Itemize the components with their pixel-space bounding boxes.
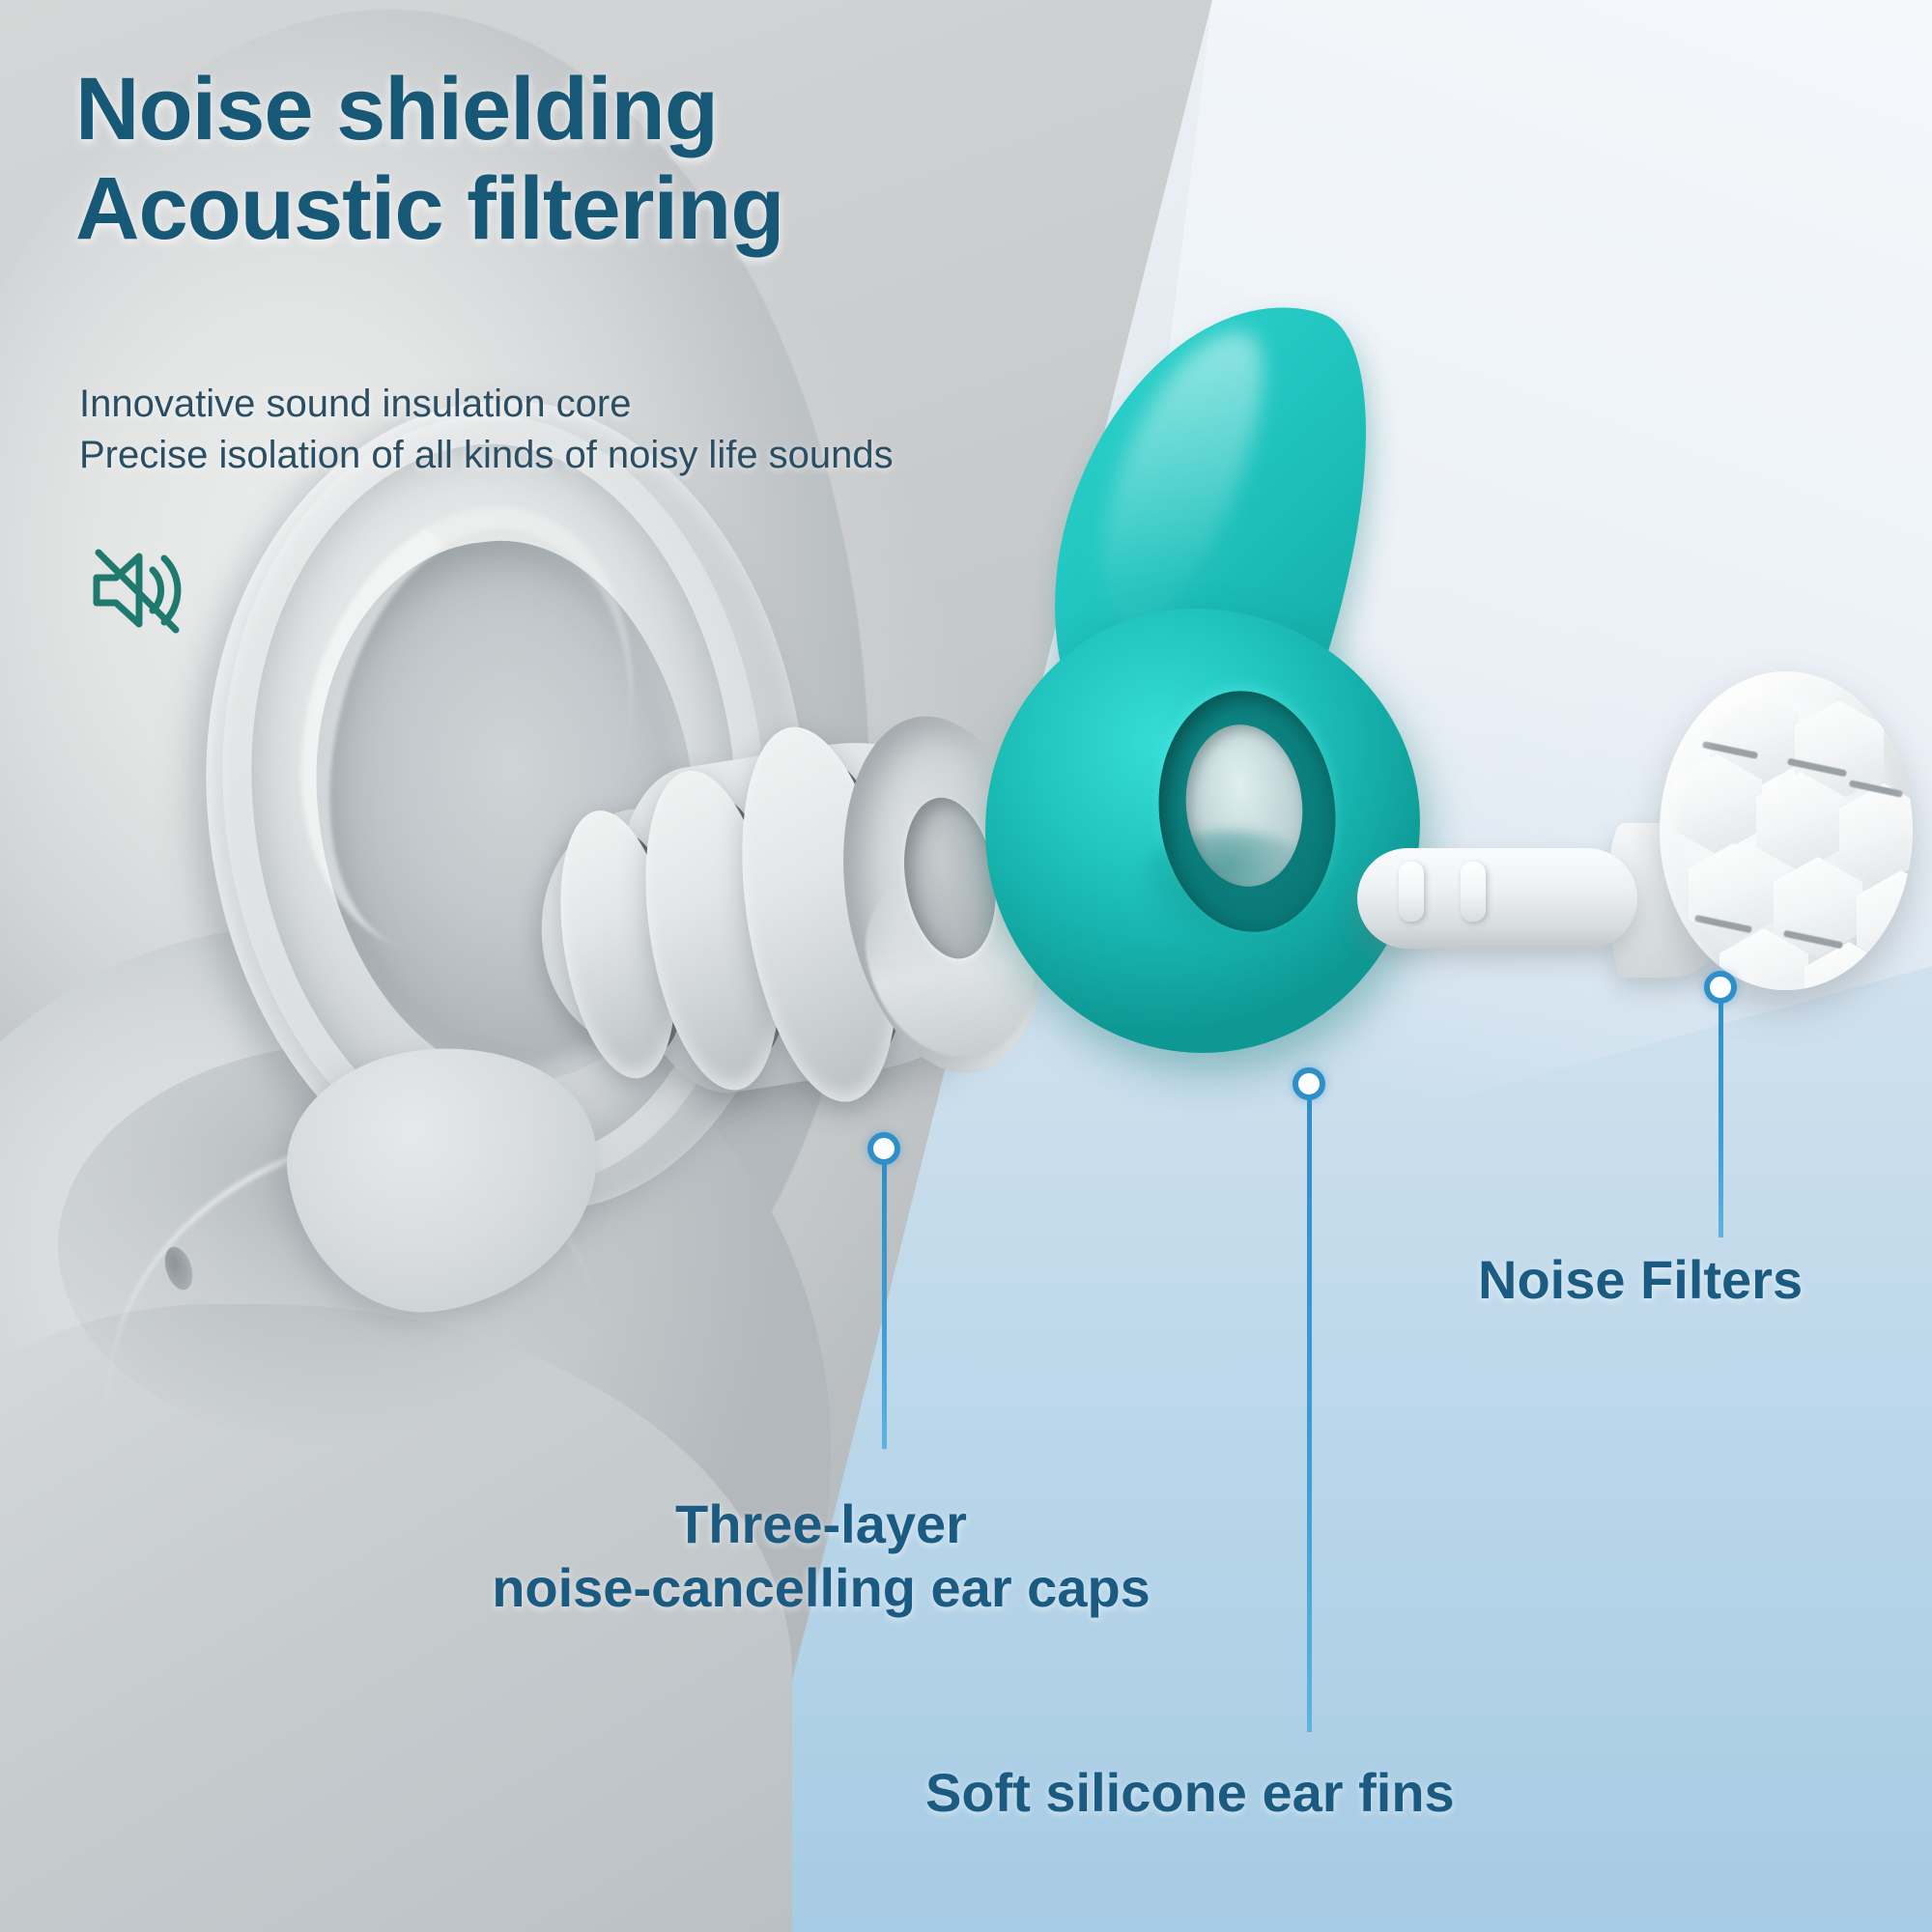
- callout-label-ear-caps-line-1: Three-layer: [675, 1493, 967, 1554]
- callout-leader-line-noise-filters: [1719, 998, 1723, 1237]
- callout-marker-noise-filters[interactable]: [1704, 971, 1737, 1004]
- product-infographic-poster: Noise shielding Acoustic filtering Innov…: [0, 0, 1932, 1932]
- silicone-ear-fin-part: [1043, 290, 1584, 1140]
- callout-label-noise-filters: Noise Filters: [1478, 1248, 1803, 1312]
- poster-subheading: Innovative sound insulation core Precise…: [79, 379, 1045, 481]
- callout-leader-line-ear-fins: [1307, 1094, 1312, 1732]
- callout-label-ear-fins-line-1: Soft silicone ear fins: [925, 1762, 1455, 1823]
- headline-line-2: Acoustic filtering: [75, 159, 1235, 259]
- callout-label-ear-caps: Three-layer noise-cancelling ear caps: [386, 1492, 1256, 1620]
- poster-headline: Noise shielding Acoustic filtering: [75, 60, 1235, 259]
- noise-filter-stem-rib-1: [1399, 862, 1424, 922]
- callout-leader-line-ear-caps: [882, 1159, 887, 1449]
- subheading-line-2: Precise isolation of all kinds of noisy …: [79, 430, 1045, 481]
- noise-filter-stem-rib-2: [1461, 862, 1486, 922]
- speaker-muted-icon: [83, 537, 189, 643]
- noise-filter-disc: [1660, 671, 1913, 990]
- ear-fin-shadow-notch: [1132, 831, 1325, 947]
- headline-line-1: Noise shielding: [75, 60, 718, 158]
- callout-marker-ear-caps[interactable]: [867, 1132, 900, 1165]
- callout-label-ear-fins: Soft silicone ear fins: [925, 1761, 1455, 1825]
- callout-marker-ear-fins[interactable]: [1293, 1067, 1325, 1100]
- callout-label-noise-filters-line-1: Noise Filters: [1478, 1249, 1803, 1310]
- subheading-line-1: Innovative sound insulation core: [79, 379, 1045, 430]
- callout-label-ear-caps-line-2: noise-cancelling ear caps: [386, 1556, 1256, 1620]
- filter-hex-facet: [1839, 783, 1913, 884]
